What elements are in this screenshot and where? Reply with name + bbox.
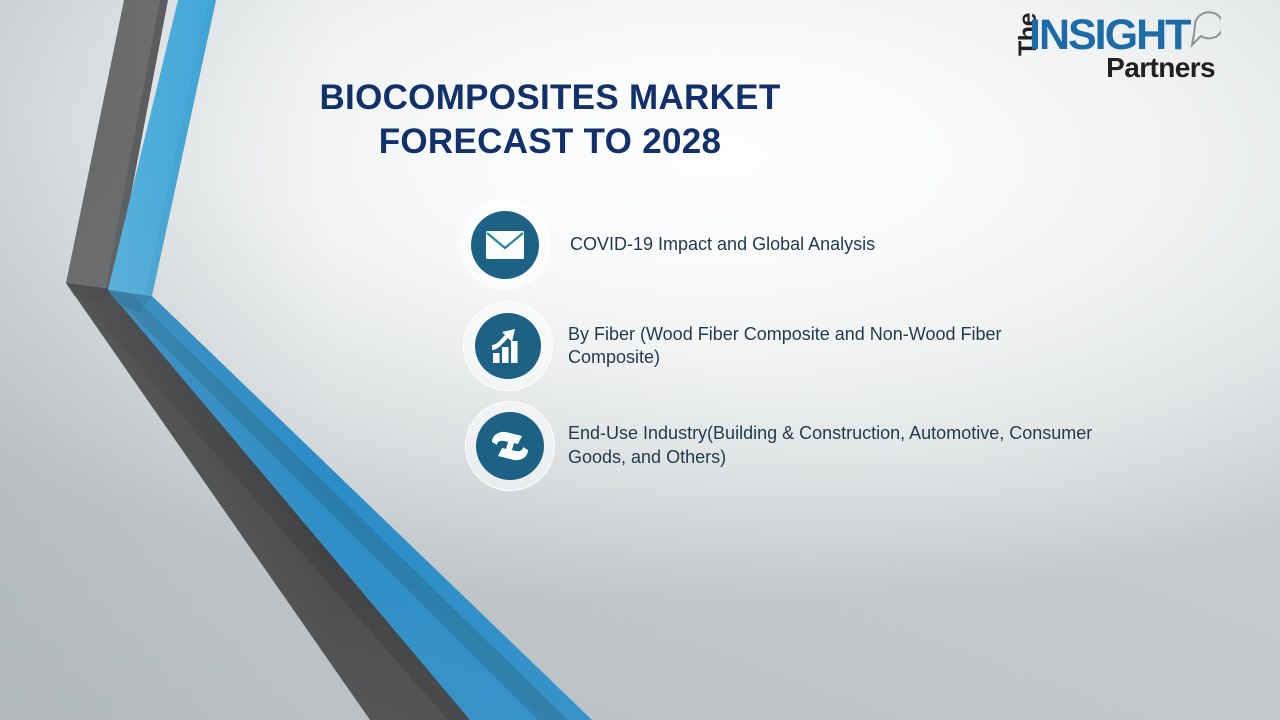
logo-partners-text: Partners xyxy=(1106,54,1215,82)
list-item: By Fiber (Wood Fiber Composite and Non-W… xyxy=(460,294,1180,398)
icon-ring xyxy=(460,200,550,290)
list-item-label: By Fiber (Wood Fiber Composite and Non-W… xyxy=(568,323,1088,370)
title-line-1: BIOCOMPOSITES MARKET xyxy=(200,76,900,120)
highlight-list: COVID-19 Impact and Global Analysis By xyxy=(460,195,1180,493)
title-line-2: FORECAST TO 2028 xyxy=(200,120,900,164)
page-title: BIOCOMPOSITES MARKET FORECAST TO 2028 xyxy=(200,76,900,165)
envelope-icon xyxy=(485,230,525,260)
icon-disc xyxy=(471,211,539,279)
icon-disc xyxy=(476,412,544,480)
handshake-icon xyxy=(489,425,531,467)
logo-insight-text: INSIGHT xyxy=(1029,14,1189,57)
list-item-label: COVID-19 Impact and Global Analysis xyxy=(570,233,875,256)
list-item: COVID-19 Impact and Global Analysis xyxy=(460,195,1180,294)
icon-ring xyxy=(465,401,555,491)
icon-ring xyxy=(463,301,553,391)
bar-chart-growth-icon xyxy=(488,326,528,366)
insight-partners-logo: The INSIGHT Partners xyxy=(1003,6,1217,84)
list-item-label: End-Use Industry(Building & Construction… xyxy=(568,422,1113,469)
list-item: End-Use Industry(Building & Construction… xyxy=(460,398,1180,493)
icon-disc xyxy=(475,313,541,379)
presentation-slide: The INSIGHT Partners BIOCOMPOSITES MARKE… xyxy=(0,0,1280,720)
